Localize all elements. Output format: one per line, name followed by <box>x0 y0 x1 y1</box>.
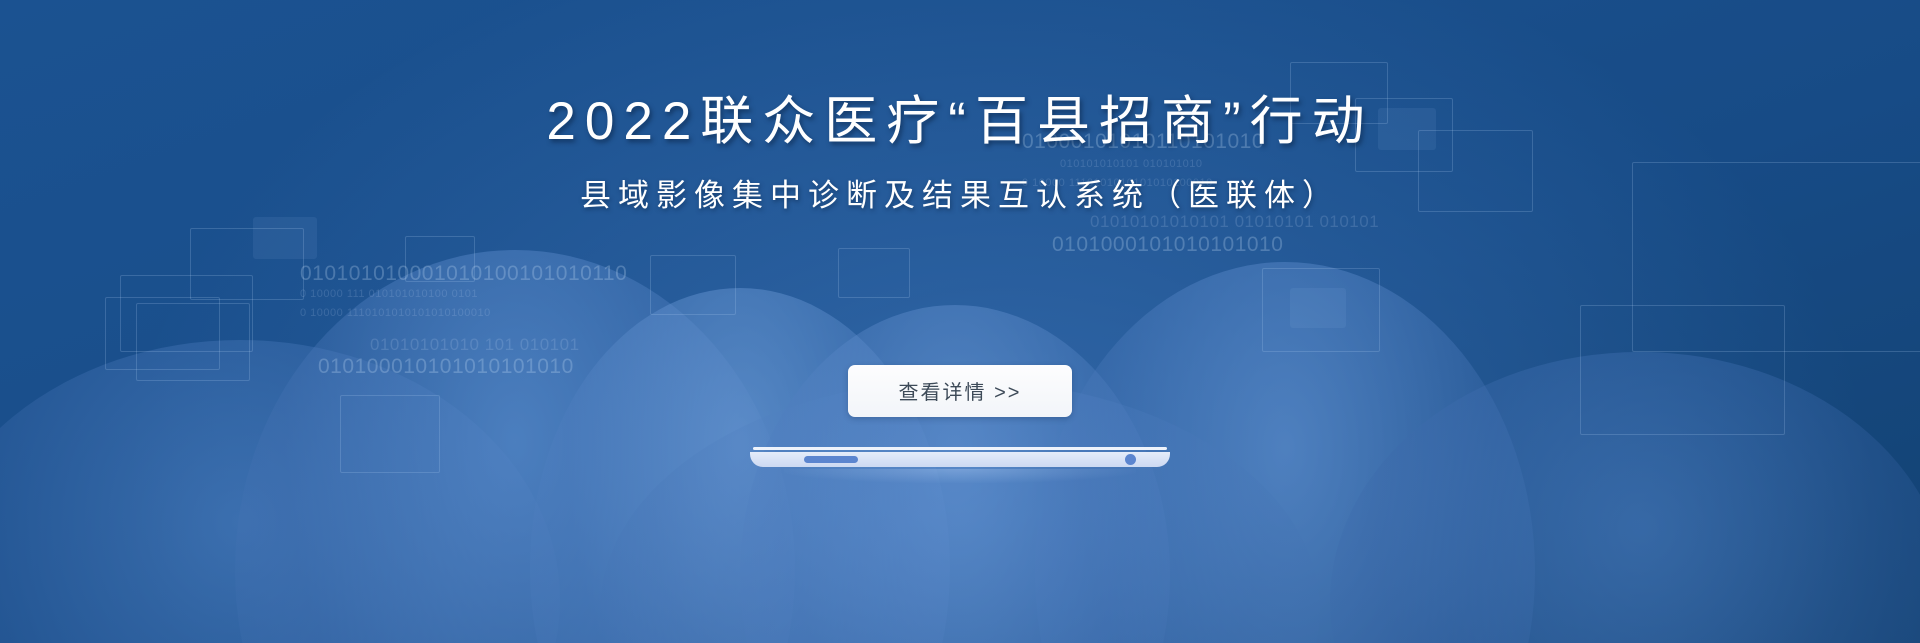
laptop-illustration <box>750 447 1170 473</box>
deco-rect-left-3 <box>190 228 304 300</box>
laptop-glow <box>784 469 1137 483</box>
binary-text-left-1: 010101010001010100101010110 <box>300 262 627 286</box>
binary-text-right-5: 0101000101010101010 <box>1052 233 1283 257</box>
promo-banner: 010101010001010100101010110 0 10000 111 … <box>0 0 1920 643</box>
laptop-lid-edge <box>753 447 1167 450</box>
deco-rect-left-4 <box>105 297 220 370</box>
deco-fill-right-2 <box>1290 288 1346 328</box>
deco-rect-center-2 <box>838 248 910 298</box>
laptop-trackpad-icon <box>804 456 858 463</box>
cloud-shape-center-front <box>600 380 1320 643</box>
banner-main-title: 2022联众医疗“百县招商”行动 <box>0 92 1920 153</box>
deco-rect-right-6 <box>1262 268 1380 352</box>
binary-text-left-3: 0 10000 1110101010101010100010 <box>300 307 491 319</box>
banner-text-block: 2022联众医疗“百县招商”行动 县域影像集中诊断及结果互认系统（医联体） <box>0 92 1920 214</box>
deco-rect-center-1 <box>650 255 736 315</box>
binary-text-left-2: 0 10000 111 010101010100 0101 <box>300 288 478 300</box>
view-details-button[interactable]: 查看详情 >> <box>848 365 1072 417</box>
deco-rect-left-6 <box>405 236 475 282</box>
binary-text-right-4: 01010101010101 01010101 010101 <box>1090 212 1379 232</box>
binary-text-left-4: 01010101010 101 010101 <box>370 335 580 355</box>
deco-rect-left-1 <box>120 275 253 352</box>
cta-container: 查看详情 >> <box>0 365 1920 417</box>
cloud-shape-left <box>235 250 795 643</box>
banner-sub-title: 县域影像集中诊断及结果互认系统（医联体） <box>0 177 1920 214</box>
deco-fill-left-1 <box>253 217 317 259</box>
laptop-indicator-dot-icon <box>1125 454 1136 465</box>
